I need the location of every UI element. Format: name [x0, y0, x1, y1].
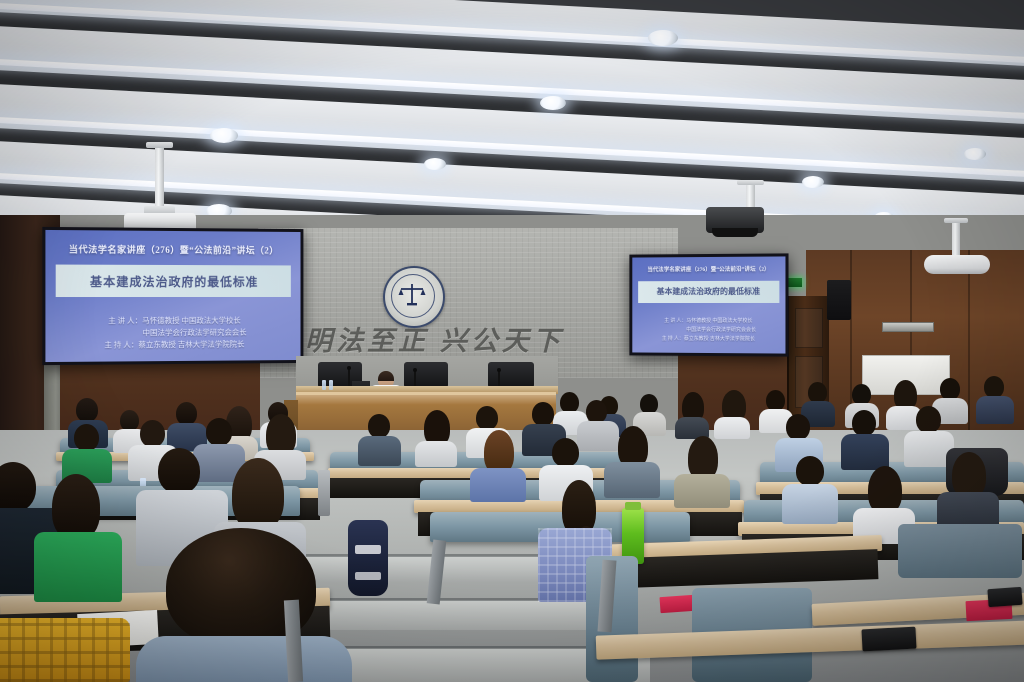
navy-backpack: [348, 520, 388, 596]
torso: [841, 434, 889, 470]
slide-speaker-line: 主 讲 人：马怀德教授 中国政法大学校长: [45, 315, 300, 327]
left-screen: 当代法学名家讲座（276）暨“公法前沿”讲坛（2） 基本建成法治政府的最低标准 …: [42, 227, 303, 365]
head: [640, 394, 658, 414]
head: [76, 398, 98, 422]
head: [532, 402, 554, 426]
torso: [358, 436, 401, 466]
projector-center-ceiling-plate: [737, 180, 764, 185]
hair: [868, 466, 902, 514]
head: [916, 406, 941, 433]
seat-divider: [318, 470, 330, 516]
downlight: [210, 128, 238, 143]
slide-speaker-line-2: 中国法学会行政法学研究会会长: [45, 327, 300, 339]
head: [852, 410, 876, 436]
bottle-cap: [625, 502, 641, 510]
slide-host-line: 主 持 人：蔡立东教授 吉林大学法学院院长: [632, 335, 785, 343]
slide-host-line: 主 持 人：蔡立东教授 吉林大学法学院院长: [45, 338, 300, 351]
projector-right: [924, 255, 990, 274]
microphone-head: [413, 368, 417, 372]
downlight: [540, 96, 566, 110]
stage-chair: [404, 362, 448, 388]
slide-speaker-line: 主 讲 人：马怀德教授 中国政法大学校长: [632, 317, 785, 324]
head: [368, 414, 390, 438]
lecture-hall-photo: 明法至正 兴公天下 当代法学名家讲座（276）暨“公法前沿”讲坛（2） 基本建成…: [0, 0, 1024, 682]
head: [808, 382, 827, 403]
head: [176, 402, 197, 425]
water-bottle: [322, 380, 326, 390]
left-screen-surface: 当代法学名家讲座（276）暨“公法前沿”讲坛（2） 基本建成法治政府的最低标准 …: [45, 230, 300, 362]
head: [140, 420, 165, 447]
torso: [976, 396, 1014, 424]
downlight: [424, 158, 446, 170]
head: [74, 424, 99, 451]
head: [586, 400, 607, 423]
torso: [674, 474, 730, 508]
downlight: [964, 148, 986, 160]
projector-left-ceiling-plate: [146, 142, 173, 148]
red-notebook: [659, 595, 694, 613]
right-screen: 当代法学名家讲座（276）暨“公法前沿”讲坛（2） 基本建成法治政府的最低标准 …: [629, 253, 788, 356]
head: [120, 410, 139, 431]
seat-back[interactable]: [898, 524, 1022, 578]
wood-seam: [968, 250, 970, 440]
torso: [782, 484, 838, 524]
downlight: [648, 30, 678, 46]
slide-speaker-line-2: 中国法学会行政法学研究会会长: [632, 326, 785, 334]
downlight: [802, 176, 824, 188]
plaid-pattern: [0, 618, 130, 682]
torso: [604, 462, 660, 498]
head: [766, 390, 785, 411]
head: [560, 392, 579, 413]
hair: [232, 458, 284, 530]
microphone: [498, 370, 500, 386]
stage-chair: [488, 362, 534, 388]
projector-center-lens-housing: [712, 228, 758, 237]
slide-title: 基本建成法治政府的最低标准: [45, 273, 300, 290]
torso: [34, 532, 122, 602]
projector-left-pole: [155, 148, 164, 210]
torso: [577, 421, 619, 451]
right-screen-surface: 当代法学名家讲座（276）暨“公法前沿”讲坛（2） 基本建成法治政府的最低标准 …: [632, 256, 785, 353]
head: [552, 438, 579, 467]
head: [158, 448, 200, 494]
slide-title: 基本建成法治政府的最低标准: [632, 286, 785, 297]
door-panel: [795, 308, 823, 348]
microphone-head: [497, 368, 501, 372]
projector-right-pole: [952, 221, 960, 257]
backpack-strap: [355, 572, 381, 580]
torso: [470, 468, 526, 502]
slide-series-label: 当代法学名家讲座（276）暨“公法前沿”讲坛（2）: [45, 242, 300, 256]
head: [852, 384, 871, 405]
wall-vent: [882, 322, 934, 332]
head: [476, 406, 498, 430]
torso-denim: [136, 636, 352, 682]
microphone-head: [347, 366, 351, 370]
hair: [52, 474, 100, 540]
smartphone[interactable]: [987, 587, 1022, 607]
head: [796, 456, 824, 486]
head: [786, 414, 810, 440]
microphone: [414, 370, 416, 386]
scales-icon: [398, 282, 426, 308]
smartphone[interactable]: [861, 627, 916, 652]
head: [940, 378, 960, 400]
microphone: [348, 368, 350, 386]
projector-right-ceiling-plate: [944, 218, 968, 223]
backpack-strap: [355, 545, 381, 554]
head: [206, 418, 232, 446]
slide-series-label: 当代法学名家讲座（276）暨“公法前沿”讲坛（2）: [632, 265, 785, 274]
torso: [415, 441, 457, 467]
head: [984, 376, 1004, 398]
water-bottle: [329, 380, 333, 390]
torso: [714, 417, 750, 439]
wall-speaker: [827, 280, 851, 320]
